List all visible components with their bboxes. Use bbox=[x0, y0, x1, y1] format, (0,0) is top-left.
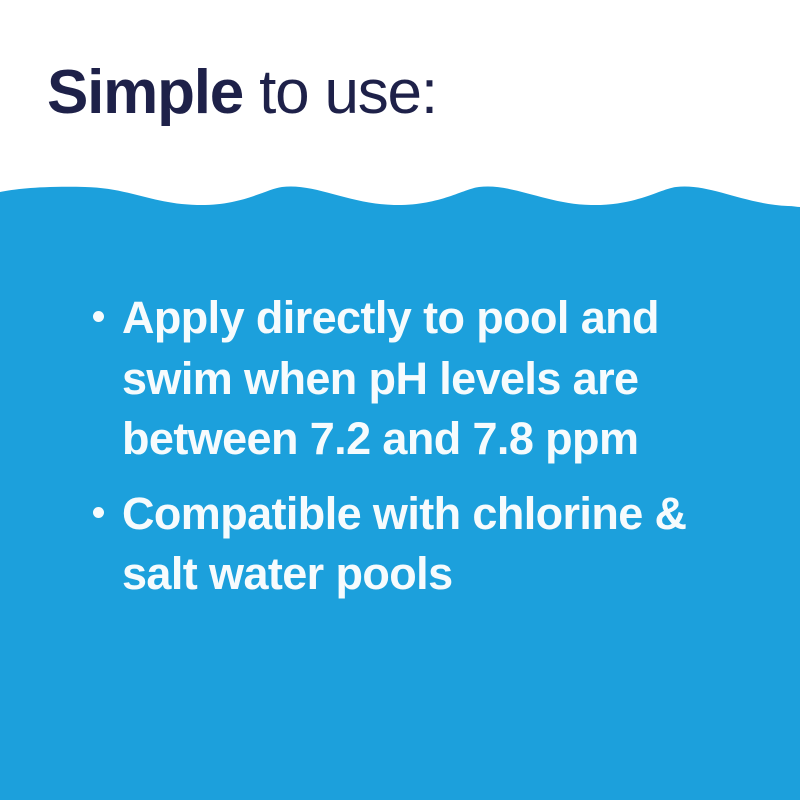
page-title: Simple to use: bbox=[47, 57, 437, 129]
bullet-dot-icon bbox=[93, 507, 104, 518]
page-title-emphasis: Simple bbox=[47, 58, 243, 127]
list-item: Compatible with chlorine & salt water po… bbox=[90, 484, 770, 605]
usage-bullet-list: Apply directly to pool and swim when pH … bbox=[90, 288, 770, 605]
list-item-label: Apply directly to pool and swim when pH … bbox=[122, 288, 737, 470]
bullet-dot-icon bbox=[93, 311, 104, 322]
product-feature-card: Simple to use: Apply directly to pool an… bbox=[0, 0, 800, 800]
list-item: Apply directly to pool and swim when pH … bbox=[90, 288, 770, 470]
list-item-label: Compatible with chlorine & salt water po… bbox=[122, 484, 737, 605]
page-title-rest: to use: bbox=[243, 58, 437, 127]
